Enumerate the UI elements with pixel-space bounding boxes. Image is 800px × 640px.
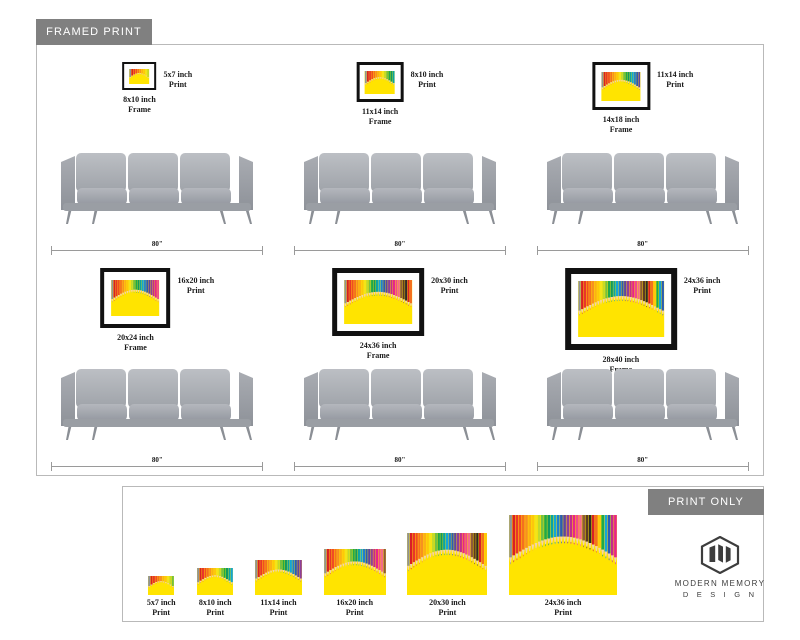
dimension-cap-right (262, 246, 263, 255)
frame-size-label: 11x14 inchFrame (362, 107, 398, 127)
frame-mat (124, 64, 154, 88)
dimension-cap-left (51, 246, 52, 255)
dimension-label: 80" (144, 240, 170, 248)
pencil-artwork (255, 560, 302, 595)
sofa-width-dimension: 80" (294, 458, 506, 470)
sofa-illustration (51, 144, 263, 236)
print-only-row: 5x7 inchPrint8x10 inchPrint11x14 inchPri… (122, 486, 642, 622)
frame-mat (337, 273, 419, 331)
modern-memory-design-mark (699, 536, 741, 574)
frame-column: 11x14 inchFrame (357, 62, 404, 127)
picture-frame[interactable] (332, 268, 424, 336)
frame-size-label: 24x36 inchFrame (360, 341, 397, 361)
sofa-width-dimension: 80" (537, 458, 749, 470)
sofa-illustration (537, 144, 749, 236)
brand-logo: MODERN MEMORY D E S I G N (660, 536, 780, 599)
print-only-item[interactable]: 11x14 inchPrint (255, 560, 302, 618)
print-only-item[interactable]: 24x36 inchPrint (509, 515, 617, 618)
frame-column: 8x10 inchFrame (122, 62, 156, 115)
tab-print-only[interactable]: PRINT ONLY (648, 489, 764, 515)
frame-column: 28x40 inchFrame (565, 268, 677, 375)
frame-size-label: 20x24 inchFrame (117, 333, 154, 353)
framed-print-cell[interactable]: 11x14 inchFrame8x10 inchPrint80" (279, 44, 522, 260)
tab-framed-print[interactable]: FRAMED PRINT (36, 19, 152, 45)
dimension-cap-right (262, 462, 263, 471)
frame-mat (360, 65, 401, 99)
dimension-line (51, 250, 263, 251)
pencil-artwork (111, 280, 159, 316)
dimension-line (51, 466, 263, 467)
frame-column: 24x36 inchFrame (332, 268, 424, 361)
frame-column: 14x18 inchFrame (592, 62, 650, 135)
dimension-cap-left (51, 462, 52, 471)
dimension-line (294, 466, 506, 467)
print-size-label: 16x20 inchPrint (336, 598, 373, 618)
frame-size-label: 8x10 inchFrame (123, 95, 156, 115)
framed-print-cell[interactable]: 14x18 inchFrame11x14 inchPrint80" (521, 44, 764, 260)
print-size-label: 20x30 inchPrint (431, 276, 468, 296)
dimension-cap-right (505, 246, 506, 255)
pencil-artwork (365, 71, 395, 94)
frame-assembly: 8x10 inchFrame5x7 inchPrint (122, 62, 192, 115)
sofa-illustration (51, 360, 263, 452)
sofa-width-dimension: 80" (537, 242, 749, 254)
dimension-label: 80" (630, 456, 656, 464)
brand-name: MODERN MEMORY (675, 579, 766, 588)
sofa-width-dimension: 80" (51, 242, 263, 254)
framed-print-cell[interactable]: 24x36 inchFrame20x30 inchPrint80" (279, 260, 522, 476)
dimension-label: 80" (387, 456, 413, 464)
frame-assembly: 24x36 inchFrame20x30 inchPrint (332, 268, 468, 361)
print-only-item[interactable]: 5x7 inchPrint (147, 576, 176, 618)
dimension-line (537, 250, 749, 251)
print-only-item[interactable]: 20x30 inchPrint (407, 533, 487, 618)
dimension-cap-left (294, 246, 295, 255)
pencil-artwork (509, 515, 617, 595)
dimension-cap-right (748, 462, 749, 471)
dimension-label: 80" (144, 456, 170, 464)
frame-assembly: 28x40 inchFrame24x36 inchPrint (565, 268, 721, 375)
pencil-artwork (407, 533, 487, 595)
picture-frame[interactable] (565, 268, 677, 350)
dimension-label: 80" (387, 240, 413, 248)
print-only-item[interactable]: 8x10 inchPrint (197, 568, 233, 618)
frame-size-label: 14x18 inchFrame (603, 115, 640, 135)
print-size-label: 11x14 inchPrint (260, 598, 296, 618)
frame-mat (104, 272, 166, 324)
frame-assembly: 11x14 inchFrame8x10 inchPrint (357, 62, 444, 127)
print-size-label: 11x14 inchPrint (657, 70, 693, 90)
brand-subtitle: D E S I G N (683, 590, 757, 599)
pencil-artwork (578, 281, 664, 337)
sofa-width-dimension: 80" (51, 458, 263, 470)
print-size-label: 5x7 inchPrint (147, 598, 176, 618)
dimension-cap-left (537, 246, 538, 255)
framed-print-grid: 8x10 inchFrame5x7 inchPrint80"11x14 inch… (36, 44, 764, 476)
frame-mat (595, 65, 647, 107)
print-size-label: 24x36 inchPrint (545, 598, 582, 618)
dimension-label: 80" (630, 240, 656, 248)
pencil-artwork (148, 576, 174, 595)
print-size-label: 5x7 inchPrint (163, 70, 192, 90)
framed-print-cell[interactable]: 8x10 inchFrame5x7 inchPrint80" (36, 44, 279, 260)
print-size-label: 8x10 inchPrint (411, 70, 444, 90)
dimension-cap-right (505, 462, 506, 471)
dimension-cap-left (537, 462, 538, 471)
pencil-artwork (324, 549, 386, 595)
sofa-width-dimension: 80" (294, 242, 506, 254)
pencil-artwork (197, 568, 233, 595)
frame-assembly: 20x24 inchFrame16x20 inchPrint (100, 268, 214, 353)
frame-assembly: 14x18 inchFrame11x14 inchPrint (592, 62, 693, 135)
frame-mat (571, 274, 671, 344)
picture-frame[interactable] (100, 268, 170, 328)
dimension-line (294, 250, 506, 251)
sofa-illustration (294, 360, 506, 452)
framed-print-cell[interactable]: 28x40 inchFrame24x36 inchPrint80" (521, 260, 764, 476)
pencil-artwork (344, 280, 412, 324)
print-only-item[interactable]: 16x20 inchPrint (324, 549, 386, 618)
framed-print-cell[interactable]: 20x24 inchFrame16x20 inchPrint80" (36, 260, 279, 476)
print-size-label: 8x10 inchPrint (199, 598, 232, 618)
print-size-label: 20x30 inchPrint (429, 598, 466, 618)
print-size-label: 16x20 inchPrint (177, 276, 214, 296)
pencil-artwork (602, 72, 641, 101)
frame-column: 20x24 inchFrame (100, 268, 170, 353)
dimension-line (537, 466, 749, 467)
print-size-label: 24x36 inchPrint (684, 276, 721, 296)
picture-frame[interactable] (122, 62, 156, 90)
dimension-cap-left (294, 462, 295, 471)
dimension-cap-right (748, 246, 749, 255)
sofa-illustration (294, 144, 506, 236)
pencil-artwork (129, 69, 149, 84)
picture-frame[interactable] (592, 62, 650, 110)
sofa-illustration (537, 360, 749, 452)
picture-frame[interactable] (357, 62, 404, 102)
